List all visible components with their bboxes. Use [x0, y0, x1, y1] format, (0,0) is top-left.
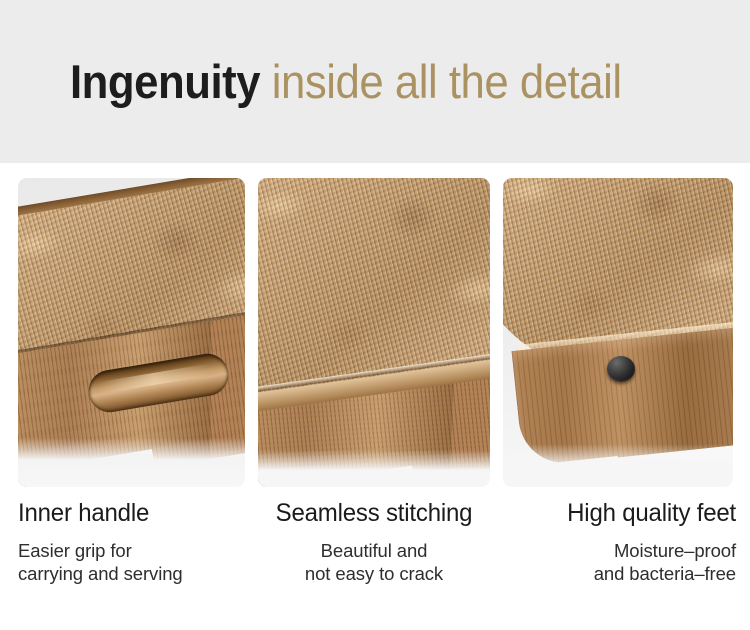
- caption-subtitle: Moisture–proof and bacteria–free: [500, 539, 736, 585]
- caption-title: High quality feet: [509, 498, 736, 528]
- photo-rubber-foot: [503, 178, 733, 487]
- caption-title: Seamless stitching: [261, 498, 488, 528]
- caption-seamless-stitching: Seamless stitching Beautiful and not eas…: [256, 498, 492, 585]
- photo-seamless-stitching: [258, 178, 490, 487]
- caption-inner-handle: Inner handle Easier grip for carrying an…: [18, 498, 248, 585]
- caption-subtitle-line-2: carrying and serving: [18, 562, 248, 585]
- caption-subtitle: Easier grip for carrying and serving: [18, 539, 248, 585]
- headline-primary: Ingenuity: [70, 55, 260, 108]
- headline-band: Ingenuity inside all the detail: [0, 0, 750, 163]
- feature-caption-row: Inner handle Easier grip for carrying an…: [0, 498, 750, 618]
- caption-subtitle: Beautiful and not easy to crack: [256, 539, 492, 585]
- caption-subtitle-line-1: Beautiful and: [256, 539, 492, 562]
- photo-bottom-fade: [258, 450, 490, 487]
- caption-subtitle-line-2: and bacteria–free: [500, 562, 736, 585]
- rubber-foot-icon: [607, 356, 636, 382]
- product-feature-banner: Ingenuity inside all the detail: [0, 0, 750, 630]
- feature-image-high-quality-feet: [503, 178, 733, 487]
- photo-bottom-fade: [503, 444, 733, 487]
- caption-subtitle-line-1: Moisture–proof: [500, 539, 736, 562]
- caption-title: Inner handle: [18, 498, 239, 528]
- photo-bottom-fade: [18, 438, 245, 487]
- page-title: Ingenuity inside all the detail: [70, 58, 622, 105]
- feature-image-inner-handle: [18, 178, 245, 487]
- caption-subtitle-line-1: Easier grip for: [18, 539, 248, 562]
- headline-secondary: inside all the detail: [272, 55, 622, 108]
- photo-inner-handle: [18, 178, 245, 487]
- feature-image-row: [0, 178, 750, 487]
- caption-subtitle-line-2: not easy to crack: [256, 562, 492, 585]
- caption-high-quality-feet: High quality feet Moisture–proof and bac…: [500, 498, 736, 585]
- feature-image-seamless-stitching: [258, 178, 490, 487]
